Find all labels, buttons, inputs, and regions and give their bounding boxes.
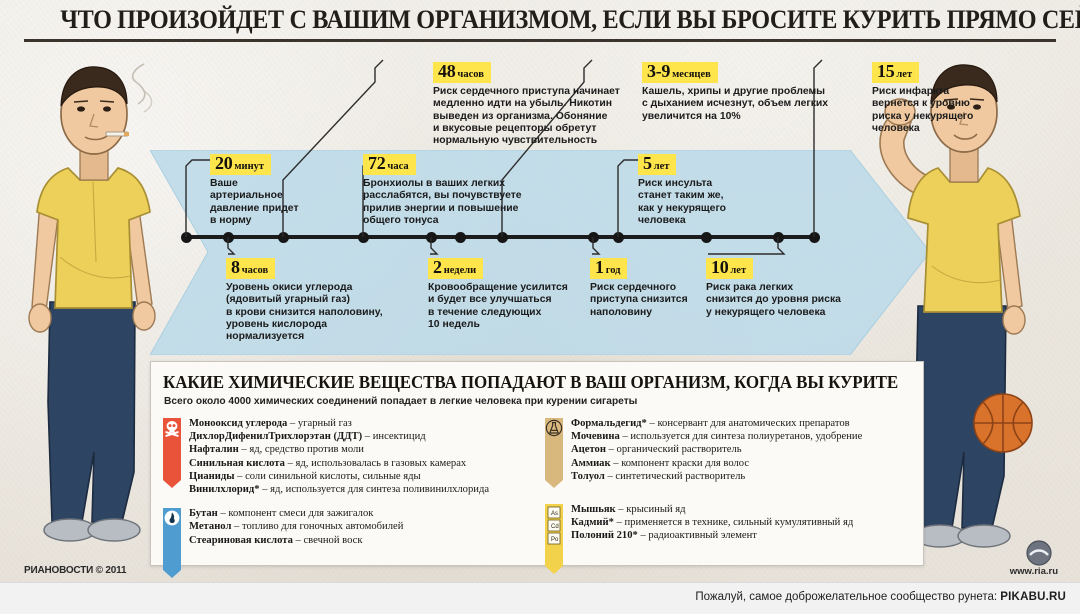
callout-20-minut: 20минутВашеартериальноедавление придетв … [210,154,328,227]
svg-text:As: As [551,511,558,517]
header: ЧТО ПРОИЗОЙДЕТ С ВАШИМ ОРГАНИЗМОМ, ЕСЛИ … [0,0,1080,44]
chemical-description: – угарный газ [287,418,352,429]
flask-icon [545,418,563,492]
chemical-description: – яд, используется для синтеза поливинил… [260,484,490,495]
chemical-item: Кадмий* – применяется в технике, сильный… [571,516,853,529]
chemical-item: Монооксид углерода – угарный газ [189,417,489,430]
chemical-group: AsCdPoМышьяк – крысиный ядКадмий* – прим… [545,502,913,578]
chemicals-title: КАКИЕ ХИМИЧЕСКИЕ ВЕЩЕСТВА ПОПАДАЮТ В ВАШ… [163,372,900,393]
page-title: ЧТО ПРОИЗОЙДЕТ С ВАШИМ ОРГАНИЗМОМ, ЕСЛИ … [60,5,1023,35]
chemical-description: – консервант для анатомических препарато… [647,418,850,429]
callout-header: 2недели [428,258,483,279]
chemical-description: – компонент краски для волос [611,458,749,469]
timeline-node [613,232,624,243]
chemical-group: Формальдегид* – консервант для анатомиче… [545,416,913,492]
chemical-name: Полоний 210* [571,530,638,541]
skull-crossbones-icon [163,418,181,492]
timeline: 20минутВашеартериальноедавление придетв … [150,140,940,365]
chemical-item: Формальдегид* – консервант для анатомиче… [571,417,862,430]
flammable-icon [163,508,181,582]
chemical-name: Ацетон [571,444,606,455]
chemicals-panel: КАКИЕ ХИМИЧЕСКИЕ ВЕЩЕСТВА ПОПАДАЮТ В ВАШ… [150,361,924,566]
chemicals-column-left: Монооксид углерода – угарный газДихлорДи… [163,416,531,599]
periodic-elements-icon: AsCdPo [545,504,563,578]
timeline-node [426,232,437,243]
chemical-description: – инсектицид [362,431,426,442]
callout-72-chasa: 72часаБронхиолы в ваших легкихрасслабятс… [363,154,559,227]
leader-line [186,160,212,237]
callout-48-chasov: 48часовРиск сердечного приступа начинает… [433,62,633,148]
timeline-node [588,232,599,243]
chemical-name: Синильная кислота [189,458,285,469]
chemical-group-tag: AsCdPo [545,502,563,578]
chemical-item: Толуол – синтетический растворитель [571,470,862,483]
callout-header: 20минут [210,154,271,175]
chemical-list: Бутан – компонент смеси для зажигалокМет… [189,506,403,582]
callout-unit: месяцев [672,69,711,80]
chemical-name: Аммиак [571,458,611,469]
callout-number: 1 [595,257,604,277]
chemical-name: ДихлорДифенилТрихлорэтан (ДДТ) [189,431,362,442]
callout-unit: лет [730,265,746,276]
callout-header: 15лет [872,62,919,83]
chemical-description: – крысиный яд [616,504,686,515]
chemical-item: Аммиак – компонент краски для волос [571,457,862,470]
callout-3-9-mesyatsev: 3-9месяцевКашель, хрипы и другие проблем… [642,62,852,123]
callout-unit: минут [234,161,264,172]
svg-text:Cd: Cd [551,524,559,530]
callout-10-let: 10летРиск рака легкихснизится до уровня … [706,258,882,319]
callout-header: 10лет [706,258,753,279]
callout-15-let: 15летРиск инфарктавернется к уровнюриска… [872,62,1002,135]
callout-body: Вашеартериальноедавление придетв норму [210,178,328,228]
chemical-list: Мышьяк – крысиный ядКадмий* – применяетс… [571,502,853,578]
chemical-name: Метанол [189,521,231,532]
callout-body: Риск сердечного приступа начинаетмедленн… [433,86,633,148]
pikabu-footer-bar: Пожалуй, самое доброжелательное сообщест… [0,582,1080,614]
callout-number: 20 [215,153,232,173]
pikabu-caption-text: Пожалуй, самое доброжелательное сообщест… [695,591,1000,603]
chemical-group: Монооксид углерода – угарный газДихлорДи… [163,416,531,496]
chemical-group-tag [545,416,563,492]
callout-number: 2 [433,257,442,277]
callout-header: 72часа [363,154,416,175]
chemical-item: Нафталин – яд, средство против моли [189,443,489,456]
chemical-name: Нафталин [189,444,239,455]
callouts-top-row: 48часовРиск сердечного приступа начинает… [150,58,940,150]
callout-body: Риск сердечногоприступа снизитсянаполови… [590,282,710,319]
svg-text:Po: Po [551,537,559,543]
chemical-item: Синильная кислота – яд, использовалась в… [189,457,489,470]
ria-novosti-logo: РИАНОВОСТИ © 2011 [24,565,126,576]
chemical-description: – используется для синтеза полиуретанов,… [620,431,863,442]
leader-line [618,160,640,237]
chemical-name: Цианиды [189,471,234,482]
callout-body: Уровень окиси углерода(ядовитый угарный … [226,282,416,344]
chemical-name: Стеариновая кислота [189,535,293,546]
chemical-list: Формальдегид* – консервант для анатомиче… [571,416,862,492]
chemical-item: Мышьяк – крысиный яд [571,503,853,516]
header-divider [24,39,1056,42]
callout-number: 15 [877,61,894,81]
chemicals-column-right: Формальдегид* – консервант для анатомиче… [545,416,913,599]
callout-unit: лет [896,69,912,80]
chemical-group-tag [163,416,181,496]
timeline-node [455,232,466,243]
chemical-name: Формальдегид* [571,418,647,429]
callout-unit: часа [387,161,408,172]
timeline-node [497,232,508,243]
chemical-group: Бутан – компонент смеси для зажигалокМет… [163,506,531,582]
chemical-item: Бутан – компонент смеси для зажигалок [189,507,403,520]
chemical-item: Метанол – топливо для гоночных автомобил… [189,520,403,533]
callout-number: 5 [643,153,652,173]
chemical-description: – топливо для гоночных автомобилей [231,521,403,532]
callout-unit: недели [444,265,476,276]
chemical-name: Монооксид углерода [189,418,287,429]
callout-body: Риск инфарктавернется к уровнюриска у не… [872,86,1002,136]
chemical-description: – яд, средство против моли [239,444,364,455]
timeline-node [773,232,784,243]
callout-body: Кровообращение усилитсяи будет все улучш… [428,282,598,332]
ria-circle-icon [1026,540,1052,566]
chemical-description: – компонент смеси для зажигалок [218,508,374,519]
chemical-name: Мочевина [571,431,620,442]
callout-header: 1год [590,258,627,279]
pikabu-brand: PIKABU.RU [1000,591,1066,603]
chemical-group-tag [163,506,181,582]
callout-number: 72 [368,153,385,173]
callout-header: 48часов [433,62,491,83]
chemical-description: – свечной воск [293,535,363,546]
callout-number: 10 [711,257,728,277]
chemical-item: Цианиды – соли синильной кислоты, сильны… [189,470,489,483]
chemical-name: Бутан [189,508,218,519]
chemicals-subtitle: Всего около 4000 химических соединений п… [164,396,923,407]
chemical-item: Стеариновая кислота – свечной воск [189,534,403,547]
chemical-name: Толуол [571,471,605,482]
callout-number: 3-9 [647,61,670,81]
chemical-description: – радиоактивный элемент [638,530,757,541]
pikabu-caption: Пожалуй, самое доброжелательное сообщест… [695,591,1066,603]
callout-unit: часов [242,265,269,276]
chemical-item: Ацетон – органический растворитель [571,443,862,456]
callout-5-let: 5летРиск инсультастанет таким же,как у н… [638,154,758,227]
callout-2-nedeli: 2неделиКровообращение усилитсяи будет вс… [428,258,598,331]
callout-number: 48 [438,61,455,81]
callout-unit: лет [654,161,670,172]
callout-header: 8часов [226,258,275,279]
timeline-node [223,232,234,243]
chemical-item: ДихлорДифенилТрихлорэтан (ДДТ) – инсекти… [189,430,489,443]
callout-unit: часов [457,69,484,80]
callout-body: Бронхиолы в ваших легкихрасслабятся, вы … [363,178,559,228]
chemical-name: Кадмий* [571,517,614,528]
chemical-description: – синтетический растворитель [605,471,745,482]
infographic-page: ЧТО ПРОИЗОЙДЕТ С ВАШИМ ОРГАНИЗМОМ, ЕСЛИ … [0,0,1080,614]
callout-number: 8 [231,257,240,277]
chemical-description: – применяется в технике, сильный кумулят… [614,517,853,528]
chemical-item: Винилхлорид* – яд, используется для синт… [189,483,489,496]
chemical-name: Винилхлорид* [189,484,260,495]
timeline-node [278,232,289,243]
chemical-list: Монооксид углерода – угарный газДихлорДи… [189,416,489,496]
chemical-item: Полоний 210* – радиоактивный элемент [571,529,853,542]
callout-unit: год [606,265,621,276]
basketball-icon [972,392,1034,454]
callout-header: 5лет [638,154,676,175]
chemical-item: Мочевина – используется для синтеза поли… [571,430,862,443]
chemical-name: Мышьяк [571,504,616,515]
callout-body: Кашель, хрипы и другие проблемыс дыхание… [642,86,852,123]
callout-header: 3-9месяцев [642,62,718,83]
timeline-node [809,232,820,243]
chemical-description: – яд, использовалась в газовых камерах [285,458,466,469]
chemical-description: – органический растворитель [606,444,742,455]
chemical-description: – соли синильной кислоты, сильные яды [234,471,420,482]
timeline-node [701,232,712,243]
timeline-node [181,232,192,243]
callout-body: Риск рака легкихснизится до уровня риска… [706,282,882,319]
callout-body: Риск инсультастанет таким же,как у некур… [638,178,758,228]
callout-8-chasov: 8часовУровень окиси углерода(ядовитый уг… [226,258,416,344]
ria-url[interactable]: www.ria.ru [1010,566,1058,577]
timeline-node [358,232,369,243]
callout-1-god: 1годРиск сердечногоприступа снизитсянапо… [590,258,710,319]
